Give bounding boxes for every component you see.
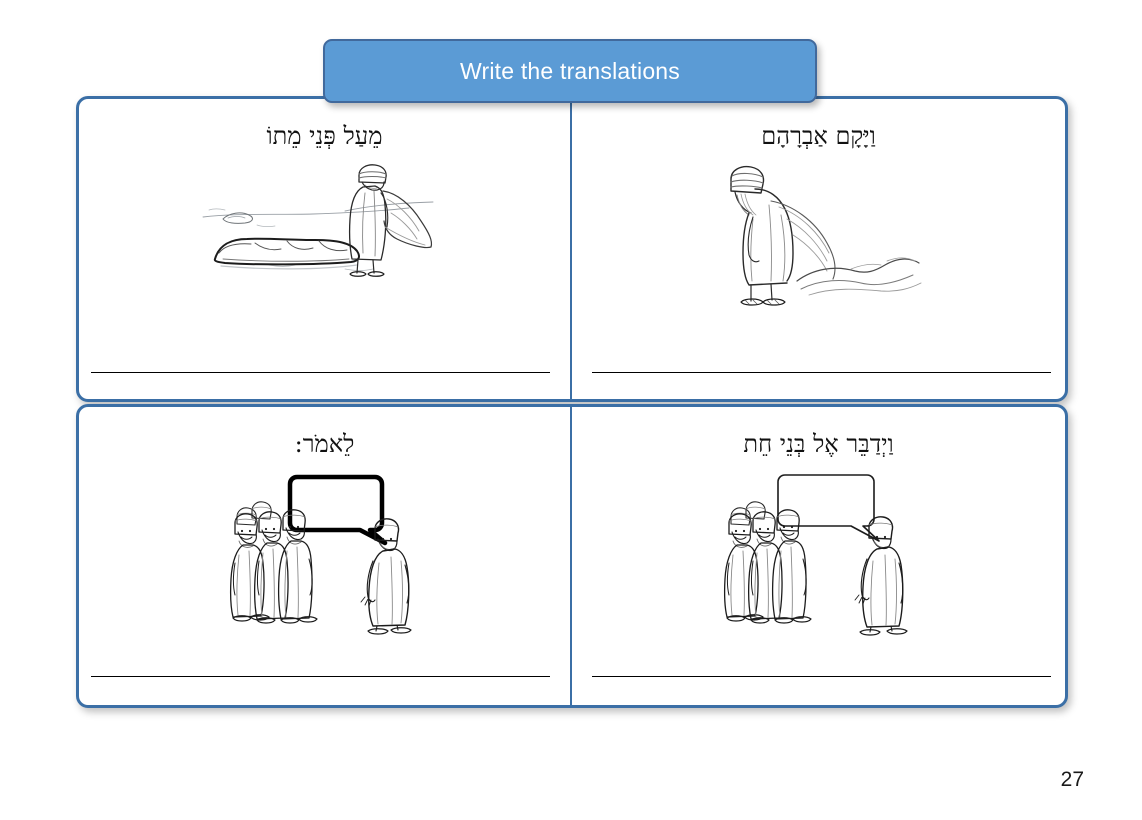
- title-banner: Write the translations: [323, 39, 817, 103]
- cell-top-right: וַיָּקָם אַבְרָהָם: [572, 99, 1065, 399]
- panel-top: מֵעַל פְּנֵי מֵתוֹ: [76, 96, 1068, 402]
- title-text: Write the translations: [460, 58, 680, 85]
- cell-top-left-heading: מֵעַל פְּנֵי מֵתוֹ: [79, 121, 570, 151]
- cell-top-right-heading: וַיָּקָם אַבְרָהָם: [572, 121, 1065, 151]
- cell-bottom-right-heading: וַיְדַבֵּר אֶל בְּנֵי חֵת: [572, 429, 1065, 459]
- cell-bottom-right: וַיְדַבֵּר אֶל בְּנֵי חֵת: [572, 407, 1065, 705]
- cell-top-left: מֵעַל פְּנֵי מֵתוֹ: [79, 99, 572, 399]
- writing-line-bottom-right[interactable]: [592, 676, 1051, 677]
- cell-bottom-left-heading: לֵאמֹר:: [79, 429, 570, 459]
- illustration-bearded-man-rising-from-bedside: [572, 161, 1065, 351]
- illustration-group-of-men-with-thin-speech-bubble: [572, 469, 1065, 659]
- writing-line-bottom-left[interactable]: [91, 676, 550, 677]
- writing-line-top-left[interactable]: [91, 372, 550, 373]
- writing-line-top-right[interactable]: [592, 372, 1051, 373]
- panel-bottom: לֵאמֹר:: [76, 404, 1068, 708]
- cell-bottom-left: לֵאמֹר:: [79, 407, 572, 705]
- illustration-group-of-men-with-thick-speech-bubble: [79, 469, 570, 659]
- illustration-man-standing-over-shrouded-body: [79, 161, 570, 351]
- page-number: 27: [1061, 768, 1084, 792]
